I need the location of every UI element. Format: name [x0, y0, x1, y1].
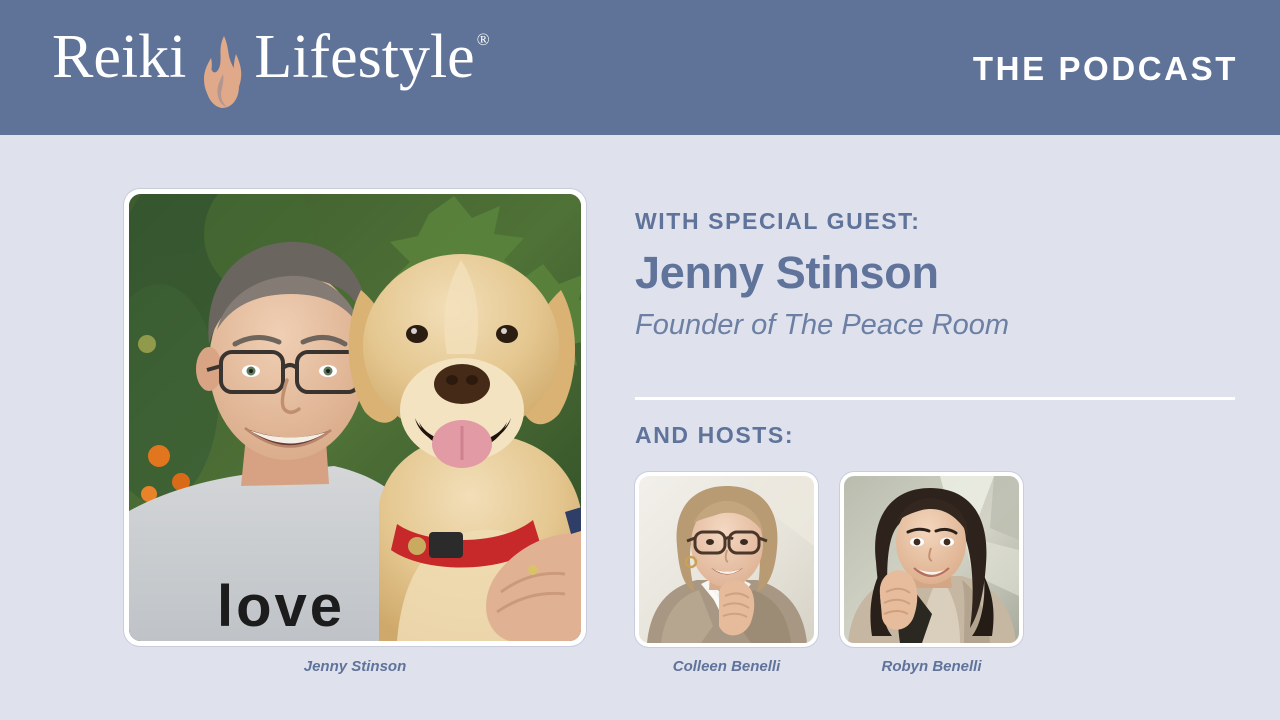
host-photo-robyn — [844, 476, 1019, 643]
section-divider — [635, 397, 1235, 400]
brand-word-lifestyle: Lifestyle — [254, 26, 474, 88]
guest-photo: love — [129, 194, 581, 641]
flame-icon — [196, 34, 248, 110]
host-name-colleen: Colleen Benelli — [635, 658, 818, 675]
host-card-robyn[interactable]: Robyn Benelli — [840, 472, 1023, 675]
host-photo-colleen — [639, 476, 814, 643]
brand-word-reiki: Reiki — [52, 26, 186, 88]
svg-text:love: love — [217, 574, 345, 639]
hosts-eyebrow-label: AND HOSTS: — [635, 422, 794, 449]
guest-photo-frame[interactable]: love — [124, 189, 586, 646]
host-card-colleen[interactable]: Colleen Benelli — [635, 472, 818, 675]
guest-name: Jenny Stinson — [635, 245, 1236, 301]
brand-logo[interactable]: Reiki Lifestyle ® — [52, 26, 488, 110]
registered-trademark-icon: ® — [477, 30, 490, 50]
guest-title: Founder of The Peace Room — [635, 307, 1236, 343]
host-name-robyn: Robyn Benelli — [840, 658, 1023, 675]
host-photo-frame — [635, 472, 818, 647]
podcast-episode-graphic: Reiki Lifestyle ® THE PODCAST — [0, 0, 1280, 720]
hosts-list: Colleen Benelli — [635, 472, 1023, 675]
header-bar: Reiki Lifestyle ® THE PODCAST — [0, 0, 1280, 135]
podcast-label: THE PODCAST — [973, 50, 1238, 88]
guest-photo-caption: Jenny Stinson — [124, 658, 586, 675]
host-photo-frame — [840, 472, 1023, 647]
guest-info-block: WITH SPECIAL GUEST: Jenny Stinson Founde… — [635, 208, 1236, 343]
guest-eyebrow-label: WITH SPECIAL GUEST: — [635, 208, 1236, 236]
